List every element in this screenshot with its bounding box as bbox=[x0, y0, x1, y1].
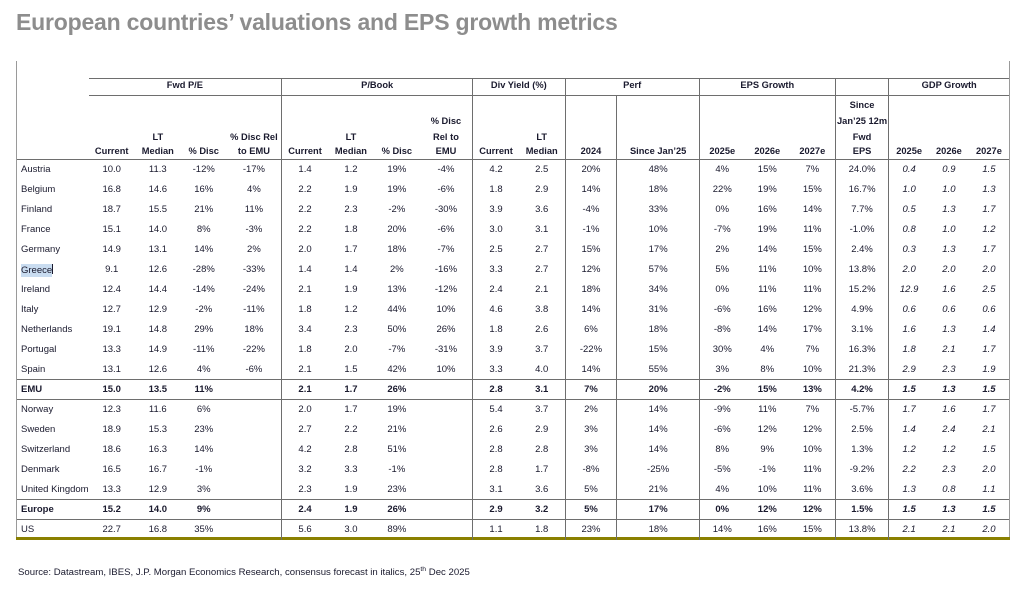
table-cell[interactable]: 15.2% bbox=[835, 280, 889, 300]
table-cell[interactable]: 16% bbox=[745, 520, 790, 540]
table-cell[interactable]: 10% bbox=[745, 480, 790, 500]
table-cell[interactable]: 23% bbox=[374, 480, 420, 500]
table-cell[interactable]: -11% bbox=[181, 340, 227, 360]
table-cell[interactable] bbox=[420, 440, 473, 460]
table-cell[interactable]: 19% bbox=[374, 160, 420, 180]
table-cell[interactable]: 55% bbox=[617, 360, 699, 380]
table-cell[interactable]: 11% bbox=[790, 480, 835, 500]
table-cell[interactable]: 2.6 bbox=[519, 320, 565, 340]
table-cell[interactable]: 1.3% bbox=[835, 440, 889, 460]
table-cell[interactable] bbox=[227, 440, 282, 460]
table-cell[interactable]: 3.4 bbox=[282, 320, 328, 340]
table-cell[interactable]: 1.5 bbox=[889, 380, 929, 400]
table-cell[interactable]: 4.6 bbox=[473, 300, 519, 320]
table-cell[interactable]: 2.0 bbox=[328, 340, 374, 360]
table-cell[interactable]: 18% bbox=[374, 240, 420, 260]
row-country-label[interactable]: Austria bbox=[17, 160, 89, 180]
table-cell[interactable] bbox=[420, 380, 473, 400]
table-cell[interactable]: 11% bbox=[745, 280, 790, 300]
table-cell[interactable]: 13.5 bbox=[135, 380, 181, 400]
table-cell[interactable]: 16.8 bbox=[135, 520, 181, 540]
table-cell[interactable] bbox=[227, 400, 282, 420]
table-cell[interactable]: -22% bbox=[565, 340, 617, 360]
table-cell[interactable]: 1.7 bbox=[969, 240, 1009, 260]
table-cell[interactable]: 1.4 bbox=[969, 320, 1009, 340]
table-cell[interactable]: 1.5 bbox=[889, 500, 929, 520]
table-cell[interactable]: 1.3 bbox=[889, 480, 929, 500]
table-cell[interactable]: 10% bbox=[420, 360, 473, 380]
table-cell[interactable]: 2.2 bbox=[282, 220, 328, 240]
table-cell[interactable]: 8% bbox=[181, 220, 227, 240]
table-cell[interactable]: 2.0 bbox=[282, 400, 328, 420]
table-cell[interactable]: 1.2 bbox=[969, 220, 1009, 240]
table-cell[interactable]: 26% bbox=[374, 500, 420, 520]
table-cell[interactable]: 2.4 bbox=[282, 500, 328, 520]
table-cell[interactable]: 1.3 bbox=[929, 200, 969, 220]
row-country-label[interactable]: Sweden bbox=[17, 420, 89, 440]
table-cell[interactable]: 1.8 bbox=[473, 320, 519, 340]
table-cell[interactable]: 26% bbox=[374, 380, 420, 400]
table-cell[interactable]: 18% bbox=[565, 280, 617, 300]
table-cell[interactable]: 5% bbox=[699, 260, 744, 280]
table-cell[interactable]: 1.5 bbox=[969, 380, 1009, 400]
table-cell[interactable]: 0.6 bbox=[929, 300, 969, 320]
table-cell[interactable]: 1.1 bbox=[473, 520, 519, 540]
table-cell[interactable]: 44% bbox=[374, 300, 420, 320]
table-cell[interactable]: 11.3 bbox=[135, 160, 181, 180]
table-cell[interactable]: 14.4 bbox=[135, 280, 181, 300]
table-cell[interactable]: 1.7 bbox=[328, 240, 374, 260]
table-row[interactable]: Norway12.311.66%2.01.719%5.43.72%14%-9%1… bbox=[17, 400, 1009, 420]
table-cell[interactable]: 11% bbox=[790, 220, 835, 240]
table-cell[interactable]: 33% bbox=[617, 200, 699, 220]
table-cell[interactable]: 2.5 bbox=[519, 160, 565, 180]
table-cell[interactable]: 11.6 bbox=[135, 400, 181, 420]
table-cell[interactable]: 2.4 bbox=[473, 280, 519, 300]
table-cell[interactable]: 19% bbox=[374, 180, 420, 200]
table-cell[interactable] bbox=[420, 400, 473, 420]
row-country-label[interactable]: Ireland bbox=[17, 280, 89, 300]
table-cell[interactable]: 14.9 bbox=[89, 240, 135, 260]
table-cell[interactable]: 10% bbox=[420, 300, 473, 320]
table-cell[interactable]: 3.2 bbox=[519, 500, 565, 520]
table-cell[interactable]: 48% bbox=[617, 160, 699, 180]
table-cell[interactable]: 16% bbox=[745, 300, 790, 320]
table-cell[interactable]: 11% bbox=[790, 460, 835, 480]
table-cell[interactable]: 16.3% bbox=[835, 340, 889, 360]
table-cell[interactable]: 2.6 bbox=[473, 420, 519, 440]
table-cell[interactable] bbox=[227, 500, 282, 520]
table-cell[interactable]: 17% bbox=[617, 240, 699, 260]
table-cell[interactable]: 3.1% bbox=[835, 320, 889, 340]
table-cell[interactable]: 2.2 bbox=[328, 420, 374, 440]
table-cell[interactable]: 4% bbox=[181, 360, 227, 380]
table-cell[interactable]: 11% bbox=[790, 280, 835, 300]
table-cell[interactable] bbox=[227, 520, 282, 540]
row-country-label[interactable]: Germany bbox=[17, 240, 89, 260]
table-cell[interactable]: 2.9 bbox=[473, 500, 519, 520]
table-cell[interactable]: 4.2 bbox=[282, 440, 328, 460]
table-cell[interactable]: 23% bbox=[181, 420, 227, 440]
table-cell[interactable]: 14% bbox=[565, 180, 617, 200]
table-cell[interactable]: 3.8 bbox=[519, 300, 565, 320]
table-cell[interactable]: 3.6% bbox=[835, 480, 889, 500]
table-cell[interactable]: 0.6 bbox=[889, 300, 929, 320]
table-cell[interactable]: 13% bbox=[790, 380, 835, 400]
table-cell[interactable]: 1.2 bbox=[328, 160, 374, 180]
table-cell[interactable]: 8% bbox=[745, 360, 790, 380]
row-country-label[interactable]: Belgium bbox=[17, 180, 89, 200]
table-row[interactable]: Austria10.011.3-12%-17%1.41.219%-4%4.22.… bbox=[17, 160, 1009, 180]
table-cell[interactable]: 1.6 bbox=[929, 280, 969, 300]
table-cell[interactable]: -7% bbox=[420, 240, 473, 260]
table-cell[interactable]: 3.1 bbox=[519, 380, 565, 400]
table-cell[interactable]: 18.7 bbox=[89, 200, 135, 220]
table-cell[interactable]: 10% bbox=[790, 440, 835, 460]
table-cell[interactable]: 0% bbox=[699, 200, 744, 220]
table-cell[interactable]: -7% bbox=[699, 220, 744, 240]
table-row[interactable]: Ireland12.414.4-14%-24%2.11.913%-12%2.42… bbox=[17, 280, 1009, 300]
table-cell[interactable]: 3% bbox=[565, 440, 617, 460]
table-cell[interactable]: 1.8 bbox=[282, 300, 328, 320]
row-country-label[interactable]: US bbox=[17, 520, 89, 540]
table-row[interactable]: US22.716.835%5.63.089%1.11.823%18%14%16%… bbox=[17, 520, 1009, 540]
table-cell[interactable]: 1.4 bbox=[282, 260, 328, 280]
table-cell[interactable]: 22.7 bbox=[89, 520, 135, 540]
table-cell[interactable]: 2.8 bbox=[473, 440, 519, 460]
table-cell[interactable]: 12.4 bbox=[89, 280, 135, 300]
table-cell[interactable]: 0.5 bbox=[889, 200, 929, 220]
table-cell[interactable]: 1.4 bbox=[282, 160, 328, 180]
table-cell[interactable]: 15% bbox=[790, 520, 835, 540]
table-cell[interactable]: 3.0 bbox=[328, 520, 374, 540]
table-cell[interactable]: -1% bbox=[565, 220, 617, 240]
table-cell[interactable]: 1.2 bbox=[929, 440, 969, 460]
table-cell[interactable]: 14% bbox=[565, 300, 617, 320]
table-cell[interactable]: 6% bbox=[565, 320, 617, 340]
table-row[interactable]: Germany14.913.114%2%2.01.718%-7%2.52.715… bbox=[17, 240, 1009, 260]
table-cell[interactable]: 12% bbox=[790, 420, 835, 440]
table-cell[interactable]: 4.9% bbox=[835, 300, 889, 320]
table-cell[interactable]: 2% bbox=[227, 240, 282, 260]
table-cell[interactable]: -14% bbox=[181, 280, 227, 300]
table-cell[interactable]: -28% bbox=[181, 260, 227, 280]
table-cell[interactable]: -6% bbox=[420, 220, 473, 240]
table-cell[interactable]: 12.3 bbox=[89, 400, 135, 420]
table-cell[interactable]: 4% bbox=[227, 180, 282, 200]
table-cell[interactable]: -6% bbox=[227, 360, 282, 380]
text-selection-highlight[interactable]: Greece bbox=[21, 264, 52, 277]
table-cell[interactable]: 7% bbox=[790, 160, 835, 180]
table-cell[interactable]: 1.4 bbox=[889, 420, 929, 440]
table-cell[interactable]: 13.1 bbox=[135, 240, 181, 260]
table-row[interactable]: Finland18.715.521%11%2.22.3-2%-30%3.93.6… bbox=[17, 200, 1009, 220]
table-cell[interactable]: 21% bbox=[181, 200, 227, 220]
table-cell[interactable]: 11% bbox=[227, 200, 282, 220]
table-cell[interactable]: 2.3 bbox=[929, 460, 969, 480]
table-cell[interactable]: 1.5 bbox=[969, 440, 1009, 460]
table-cell[interactable]: 30% bbox=[699, 340, 744, 360]
table-cell[interactable]: 2.0 bbox=[929, 260, 969, 280]
table-cell[interactable]: -2% bbox=[374, 200, 420, 220]
table-cell[interactable]: 1.7 bbox=[328, 380, 374, 400]
table-cell[interactable]: 10% bbox=[617, 220, 699, 240]
table-cell[interactable]: 34% bbox=[617, 280, 699, 300]
table-cell[interactable]: 2.0 bbox=[282, 240, 328, 260]
table-cell[interactable]: 13% bbox=[374, 280, 420, 300]
table-cell[interactable]: -12% bbox=[420, 280, 473, 300]
table-cell[interactable]: 14.8 bbox=[135, 320, 181, 340]
table-cell[interactable]: 14% bbox=[181, 440, 227, 460]
table-cell[interactable]: 3.0 bbox=[473, 220, 519, 240]
table-cell[interactable]: 18.6 bbox=[89, 440, 135, 460]
table-cell[interactable]: 1.7 bbox=[328, 400, 374, 420]
table-cell[interactable]: 2.1 bbox=[929, 520, 969, 540]
table-cell[interactable]: 10% bbox=[790, 260, 835, 280]
table-cell[interactable] bbox=[420, 520, 473, 540]
table-row[interactable]: Spain13.112.64%-6%2.11.542%10%3.34.014%5… bbox=[17, 360, 1009, 380]
table-cell[interactable]: -22% bbox=[227, 340, 282, 360]
table-cell[interactable]: 18.9 bbox=[89, 420, 135, 440]
table-cell[interactable]: 16% bbox=[181, 180, 227, 200]
table-cell[interactable]: 15% bbox=[790, 180, 835, 200]
table-cell[interactable]: 23% bbox=[565, 520, 617, 540]
table-row[interactable]: Greece9.112.6-28%-33%1.41.42%-16%3.32.71… bbox=[17, 260, 1009, 280]
table-cell[interactable]: 2.1 bbox=[929, 340, 969, 360]
table-cell[interactable] bbox=[227, 420, 282, 440]
table-cell[interactable]: 15% bbox=[745, 380, 790, 400]
table-cell[interactable]: 2.2 bbox=[282, 180, 328, 200]
table-cell[interactable]: 1.8 bbox=[889, 340, 929, 360]
table-cell[interactable]: 2.2 bbox=[282, 200, 328, 220]
table-cell[interactable]: -5% bbox=[699, 460, 744, 480]
table-cell[interactable]: -25% bbox=[617, 460, 699, 480]
table-cell[interactable]: 12.9 bbox=[135, 480, 181, 500]
table-cell[interactable]: -1.0% bbox=[835, 220, 889, 240]
table-cell[interactable]: 3.1 bbox=[519, 220, 565, 240]
table-cell[interactable]: -5.7% bbox=[835, 400, 889, 420]
table-cell[interactable]: 22% bbox=[699, 180, 744, 200]
table-cell[interactable]: 2.7 bbox=[519, 240, 565, 260]
table-cell[interactable]: 3.9 bbox=[473, 200, 519, 220]
table-cell[interactable]: 9% bbox=[745, 440, 790, 460]
row-country-label[interactable]: Europe bbox=[17, 500, 89, 520]
table-cell[interactable]: 14% bbox=[790, 200, 835, 220]
table-cell[interactable]: 1.9 bbox=[328, 180, 374, 200]
table-cell[interactable]: 51% bbox=[374, 440, 420, 460]
table-cell[interactable]: 11% bbox=[181, 380, 227, 400]
table-cell[interactable]: 0.4 bbox=[889, 160, 929, 180]
table-cell[interactable]: 10.0 bbox=[89, 160, 135, 180]
table-cell[interactable]: 2.1 bbox=[282, 280, 328, 300]
table-cell[interactable]: -8% bbox=[565, 460, 617, 480]
table-cell[interactable]: 14% bbox=[181, 240, 227, 260]
table-cell[interactable]: -2% bbox=[181, 300, 227, 320]
table-cell[interactable]: 2.9 bbox=[519, 180, 565, 200]
row-country-label[interactable]: Portugal bbox=[17, 340, 89, 360]
table-cell[interactable]: 31% bbox=[617, 300, 699, 320]
table-cell[interactable]: 1.8 bbox=[519, 520, 565, 540]
table-cell[interactable]: 7% bbox=[790, 340, 835, 360]
table-cell[interactable]: -6% bbox=[699, 420, 744, 440]
table-cell[interactable]: 1.3 bbox=[929, 320, 969, 340]
table-cell[interactable] bbox=[227, 480, 282, 500]
table-cell[interactable]: 1.7 bbox=[969, 400, 1009, 420]
table-cell[interactable]: 13.3 bbox=[89, 480, 135, 500]
table-cell[interactable]: -31% bbox=[420, 340, 473, 360]
table-cell[interactable]: 18% bbox=[617, 320, 699, 340]
table-cell[interactable]: 8% bbox=[699, 440, 744, 460]
table-cell[interactable]: 14% bbox=[617, 440, 699, 460]
table-cell[interactable]: 1.7 bbox=[889, 400, 929, 420]
table-cell[interactable]: 1.2 bbox=[328, 300, 374, 320]
table-cell[interactable]: 3.3 bbox=[473, 260, 519, 280]
table-cell[interactable]: 14% bbox=[617, 420, 699, 440]
table-cell[interactable]: 2.1 bbox=[519, 280, 565, 300]
table-cell[interactable] bbox=[420, 480, 473, 500]
table-cell[interactable]: 0% bbox=[699, 500, 744, 520]
table-cell[interactable]: 1.0 bbox=[929, 220, 969, 240]
table-cell[interactable]: 1.5 bbox=[328, 360, 374, 380]
table-cell[interactable]: 2.9 bbox=[519, 420, 565, 440]
table-cell[interactable]: 14.0 bbox=[135, 500, 181, 520]
table-cell[interactable]: 2.7 bbox=[282, 420, 328, 440]
table-cell[interactable]: 16.3 bbox=[135, 440, 181, 460]
table-cell[interactable] bbox=[227, 460, 282, 480]
table-cell[interactable]: 19% bbox=[374, 400, 420, 420]
table-cell[interactable]: 1.5 bbox=[969, 500, 1009, 520]
table-cell[interactable]: 1.7 bbox=[519, 460, 565, 480]
table-cell[interactable]: 15% bbox=[745, 160, 790, 180]
table-cell[interactable]: 16.7% bbox=[835, 180, 889, 200]
table-cell[interactable]: 50% bbox=[374, 320, 420, 340]
table-cell[interactable]: 12.9 bbox=[889, 280, 929, 300]
table-cell[interactable]: 5% bbox=[565, 500, 617, 520]
table-cell[interactable]: 4.0 bbox=[519, 360, 565, 380]
table-cell[interactable] bbox=[420, 420, 473, 440]
table-cell[interactable]: 1.0 bbox=[889, 180, 929, 200]
table-cell[interactable]: 2.5 bbox=[969, 280, 1009, 300]
table-cell[interactable]: 2.5% bbox=[835, 420, 889, 440]
table-cell[interactable]: -6% bbox=[699, 300, 744, 320]
table-cell[interactable]: 1.9 bbox=[328, 500, 374, 520]
table-cell[interactable]: 2.8 bbox=[473, 380, 519, 400]
table-cell[interactable]: 3.7 bbox=[519, 400, 565, 420]
table-cell[interactable]: 10% bbox=[790, 360, 835, 380]
table-cell[interactable]: 18% bbox=[617, 520, 699, 540]
table-row[interactable]: Portugal13.314.9-11%-22%1.82.0-7%-31%3.9… bbox=[17, 340, 1009, 360]
table-cell[interactable]: 5.6 bbox=[282, 520, 328, 540]
table-cell[interactable]: 14.9 bbox=[135, 340, 181, 360]
table-cell[interactable]: 2.3 bbox=[929, 360, 969, 380]
table-row[interactable]: France15.114.08%-3%2.21.820%-6%3.03.1-1%… bbox=[17, 220, 1009, 240]
table-cell[interactable]: 2.1 bbox=[889, 520, 929, 540]
table-cell[interactable]: 15.2 bbox=[89, 500, 135, 520]
table-cell[interactable]: 2.3 bbox=[282, 480, 328, 500]
table-cell[interactable]: -12% bbox=[181, 160, 227, 180]
table-cell[interactable]: 4.2% bbox=[835, 380, 889, 400]
table-cell[interactable]: -8% bbox=[699, 320, 744, 340]
table-cell[interactable]: 0.8 bbox=[889, 220, 929, 240]
table-cell[interactable]: -6% bbox=[420, 180, 473, 200]
row-country-label[interactable]: Netherlands bbox=[17, 320, 89, 340]
table-cell[interactable]: 1.9 bbox=[328, 480, 374, 500]
table-cell[interactable]: 1.3 bbox=[929, 240, 969, 260]
row-country-label[interactable]: Greece bbox=[17, 260, 89, 280]
table-cell[interactable]: 7.7% bbox=[835, 200, 889, 220]
table-cell[interactable]: 1.6 bbox=[929, 400, 969, 420]
table-cell[interactable]: 3% bbox=[181, 480, 227, 500]
table-cell[interactable]: 1.3 bbox=[929, 380, 969, 400]
table-cell[interactable]: -1% bbox=[181, 460, 227, 480]
table-cell[interactable]: 12.7 bbox=[89, 300, 135, 320]
table-row[interactable]: Denmark16.516.7-1%3.23.3-1%2.81.7-8%-25%… bbox=[17, 460, 1009, 480]
table-cell[interactable]: -17% bbox=[227, 160, 282, 180]
table-cell[interactable]: 2.3 bbox=[328, 200, 374, 220]
table-cell[interactable]: 3.3 bbox=[473, 360, 519, 380]
table-cell[interactable]: 2.2 bbox=[889, 460, 929, 480]
table-cell[interactable]: 5.4 bbox=[473, 400, 519, 420]
table-row[interactable]: EMU15.013.511%2.11.726%2.83.17%20%-2%15%… bbox=[17, 380, 1009, 400]
table-cell[interactable] bbox=[420, 500, 473, 520]
table-cell[interactable]: 17% bbox=[617, 500, 699, 520]
table-cell[interactable]: 29% bbox=[181, 320, 227, 340]
table-cell[interactable]: 15.5 bbox=[135, 200, 181, 220]
table-cell[interactable]: 6% bbox=[181, 400, 227, 420]
table-cell[interactable]: 14% bbox=[745, 320, 790, 340]
row-country-label[interactable]: United Kingdom bbox=[17, 480, 89, 500]
table-cell[interactable]: 3.3 bbox=[328, 460, 374, 480]
table-cell[interactable]: 2% bbox=[699, 240, 744, 260]
table-cell[interactable]: 2.8 bbox=[473, 460, 519, 480]
table-cell[interactable]: 57% bbox=[617, 260, 699, 280]
table-cell[interactable]: 0.9 bbox=[929, 160, 969, 180]
table-cell[interactable]: 2.7 bbox=[519, 260, 565, 280]
table-cell[interactable]: -33% bbox=[227, 260, 282, 280]
table-cell[interactable]: 21.3% bbox=[835, 360, 889, 380]
table-cell[interactable]: 14% bbox=[617, 400, 699, 420]
table-cell[interactable]: 13.8% bbox=[835, 260, 889, 280]
table-cell[interactable]: 2.0 bbox=[969, 520, 1009, 540]
table-cell[interactable]: 1.5 bbox=[969, 160, 1009, 180]
table-cell[interactable]: 5% bbox=[565, 480, 617, 500]
table-cell[interactable]: -1% bbox=[745, 460, 790, 480]
table-cell[interactable]: 20% bbox=[617, 380, 699, 400]
table-row[interactable]: Switzerland18.616.314%4.22.851%2.82.83%1… bbox=[17, 440, 1009, 460]
table-cell[interactable]: 19.1 bbox=[89, 320, 135, 340]
table-cell[interactable]: -4% bbox=[565, 200, 617, 220]
table-row[interactable]: Netherlands19.114.829%18%3.42.350%26%1.8… bbox=[17, 320, 1009, 340]
table-cell[interactable]: -3% bbox=[227, 220, 282, 240]
table-cell[interactable]: 1.7 bbox=[969, 340, 1009, 360]
table-cell[interactable]: 12.6 bbox=[135, 360, 181, 380]
table-cell[interactable]: 4.2 bbox=[473, 160, 519, 180]
table-cell[interactable]: 1.2 bbox=[889, 440, 929, 460]
table-cell[interactable]: 2.1 bbox=[282, 360, 328, 380]
table-cell[interactable]: 12% bbox=[790, 500, 835, 520]
table-cell[interactable]: -4% bbox=[420, 160, 473, 180]
table-cell[interactable]: 3.1 bbox=[473, 480, 519, 500]
table-cell[interactable]: 7% bbox=[565, 380, 617, 400]
table-cell[interactable]: 2.9 bbox=[889, 360, 929, 380]
table-cell[interactable]: 1.0 bbox=[929, 180, 969, 200]
table-cell[interactable]: 3.6 bbox=[519, 200, 565, 220]
table-cell[interactable]: 11% bbox=[745, 400, 790, 420]
table-cell[interactable]: 15.0 bbox=[89, 380, 135, 400]
table-cell[interactable]: 11% bbox=[745, 260, 790, 280]
row-country-label[interactable]: Finland bbox=[17, 200, 89, 220]
table-cell[interactable]: 16.5 bbox=[89, 460, 135, 480]
